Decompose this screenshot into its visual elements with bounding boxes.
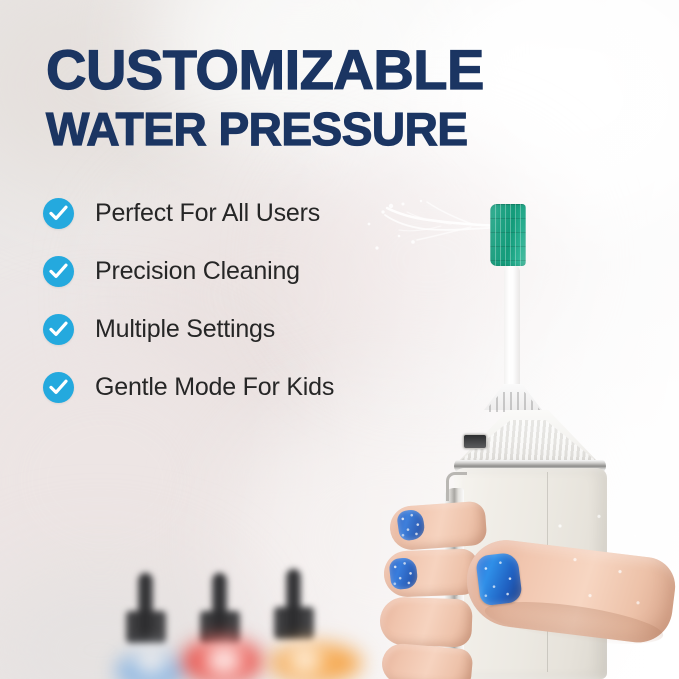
brush-neck [504,266,520,394]
feature-label: Perfect For All Users [95,199,320,228]
nozzle-stem [212,573,227,615]
color-ring-bokeh [134,647,168,675]
nozzle-stem [138,573,153,615]
check-circle-icon [43,314,74,345]
nozzle-stem [286,569,301,611]
feature-list: Perfect For All Users Precision Cleaning… [43,196,334,428]
color-ring-bokeh [204,643,244,677]
product-marketing-image: CUSTOMIZABLE WATER PRESSURE Perfect For … [0,0,679,679]
skin-glitter-texture [530,502,679,622]
headline-line-1: CUSTOMIZABLE [46,43,484,98]
nozzle-tip [198,573,242,645]
nozzle-base [274,607,314,639]
finger [379,596,473,647]
nozzle-tip [272,569,316,641]
brush-bristle-texture [490,204,526,266]
headline-line-2: WATER PRESSURE [46,107,484,152]
brush-collar-ribs [484,392,542,412]
check-circle-icon [43,372,74,403]
feature-item: Perfect For All Users [43,196,334,230]
hand-holding-device [380,488,679,679]
feature-label: Gentle Mode For Kids [95,373,334,402]
check-circle-icon [43,198,74,229]
nozzle-tip [124,573,168,645]
feature-label: Multiple Settings [95,315,275,344]
thumbnail [475,552,523,607]
finger [380,642,473,679]
indicator-display [463,434,487,449]
nail-glitter [475,552,523,607]
feature-label: Precision Cleaning [95,257,300,286]
feature-item: Gentle Mode For Kids [43,370,334,404]
check-circle-icon [43,256,74,287]
nozzle-base [126,611,166,643]
headline-block: CUSTOMIZABLE WATER PRESSURE [46,43,484,152]
feature-item: Multiple Settings [43,312,334,346]
color-ring-bokeh [288,645,322,675]
feature-item: Precision Cleaning [43,254,334,288]
replacement-nozzle-tips [120,565,360,679]
brush-head [466,196,584,426]
